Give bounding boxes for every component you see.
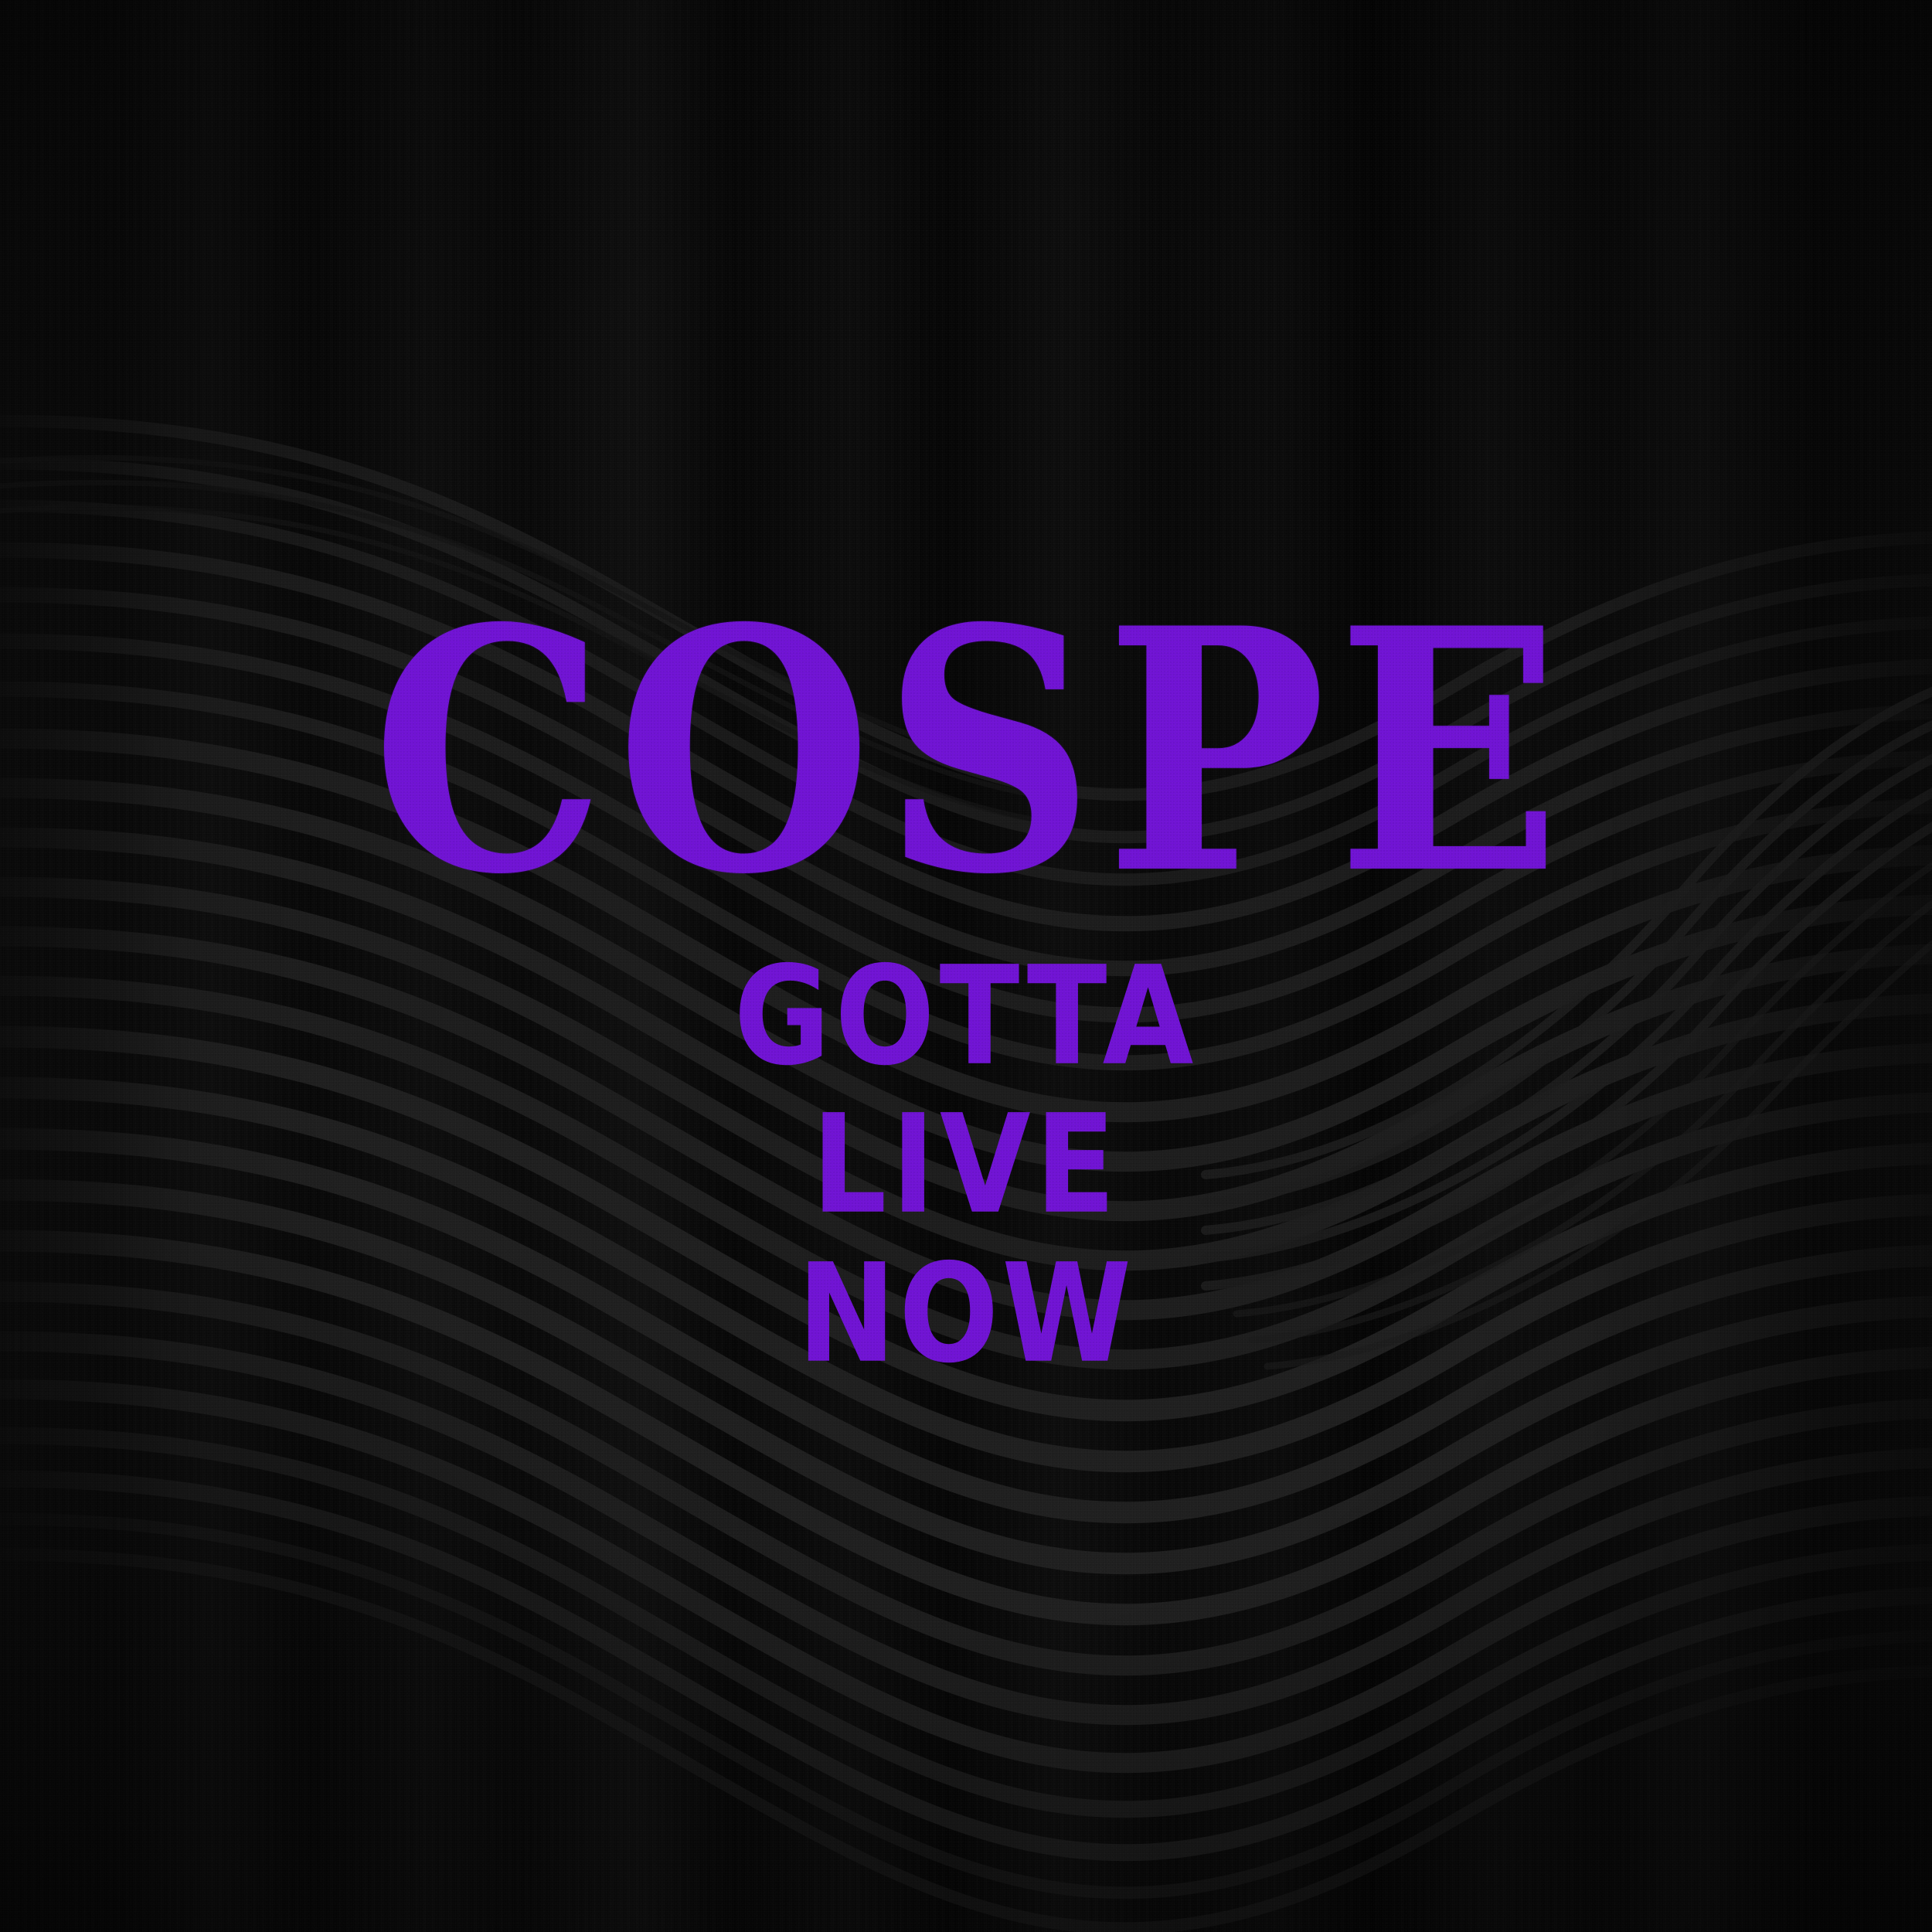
subtitle-line-now: NOW [798, 1256, 1134, 1373]
subtitle-line-gotta: GOTTA [734, 958, 1199, 1076]
album-cover: COSPE GOTTA LIVE NOW [0, 0, 1932, 1932]
artist-wordmark: COSPE [372, 623, 1571, 883]
subtitle-line-live: LIVE [812, 1107, 1121, 1224]
